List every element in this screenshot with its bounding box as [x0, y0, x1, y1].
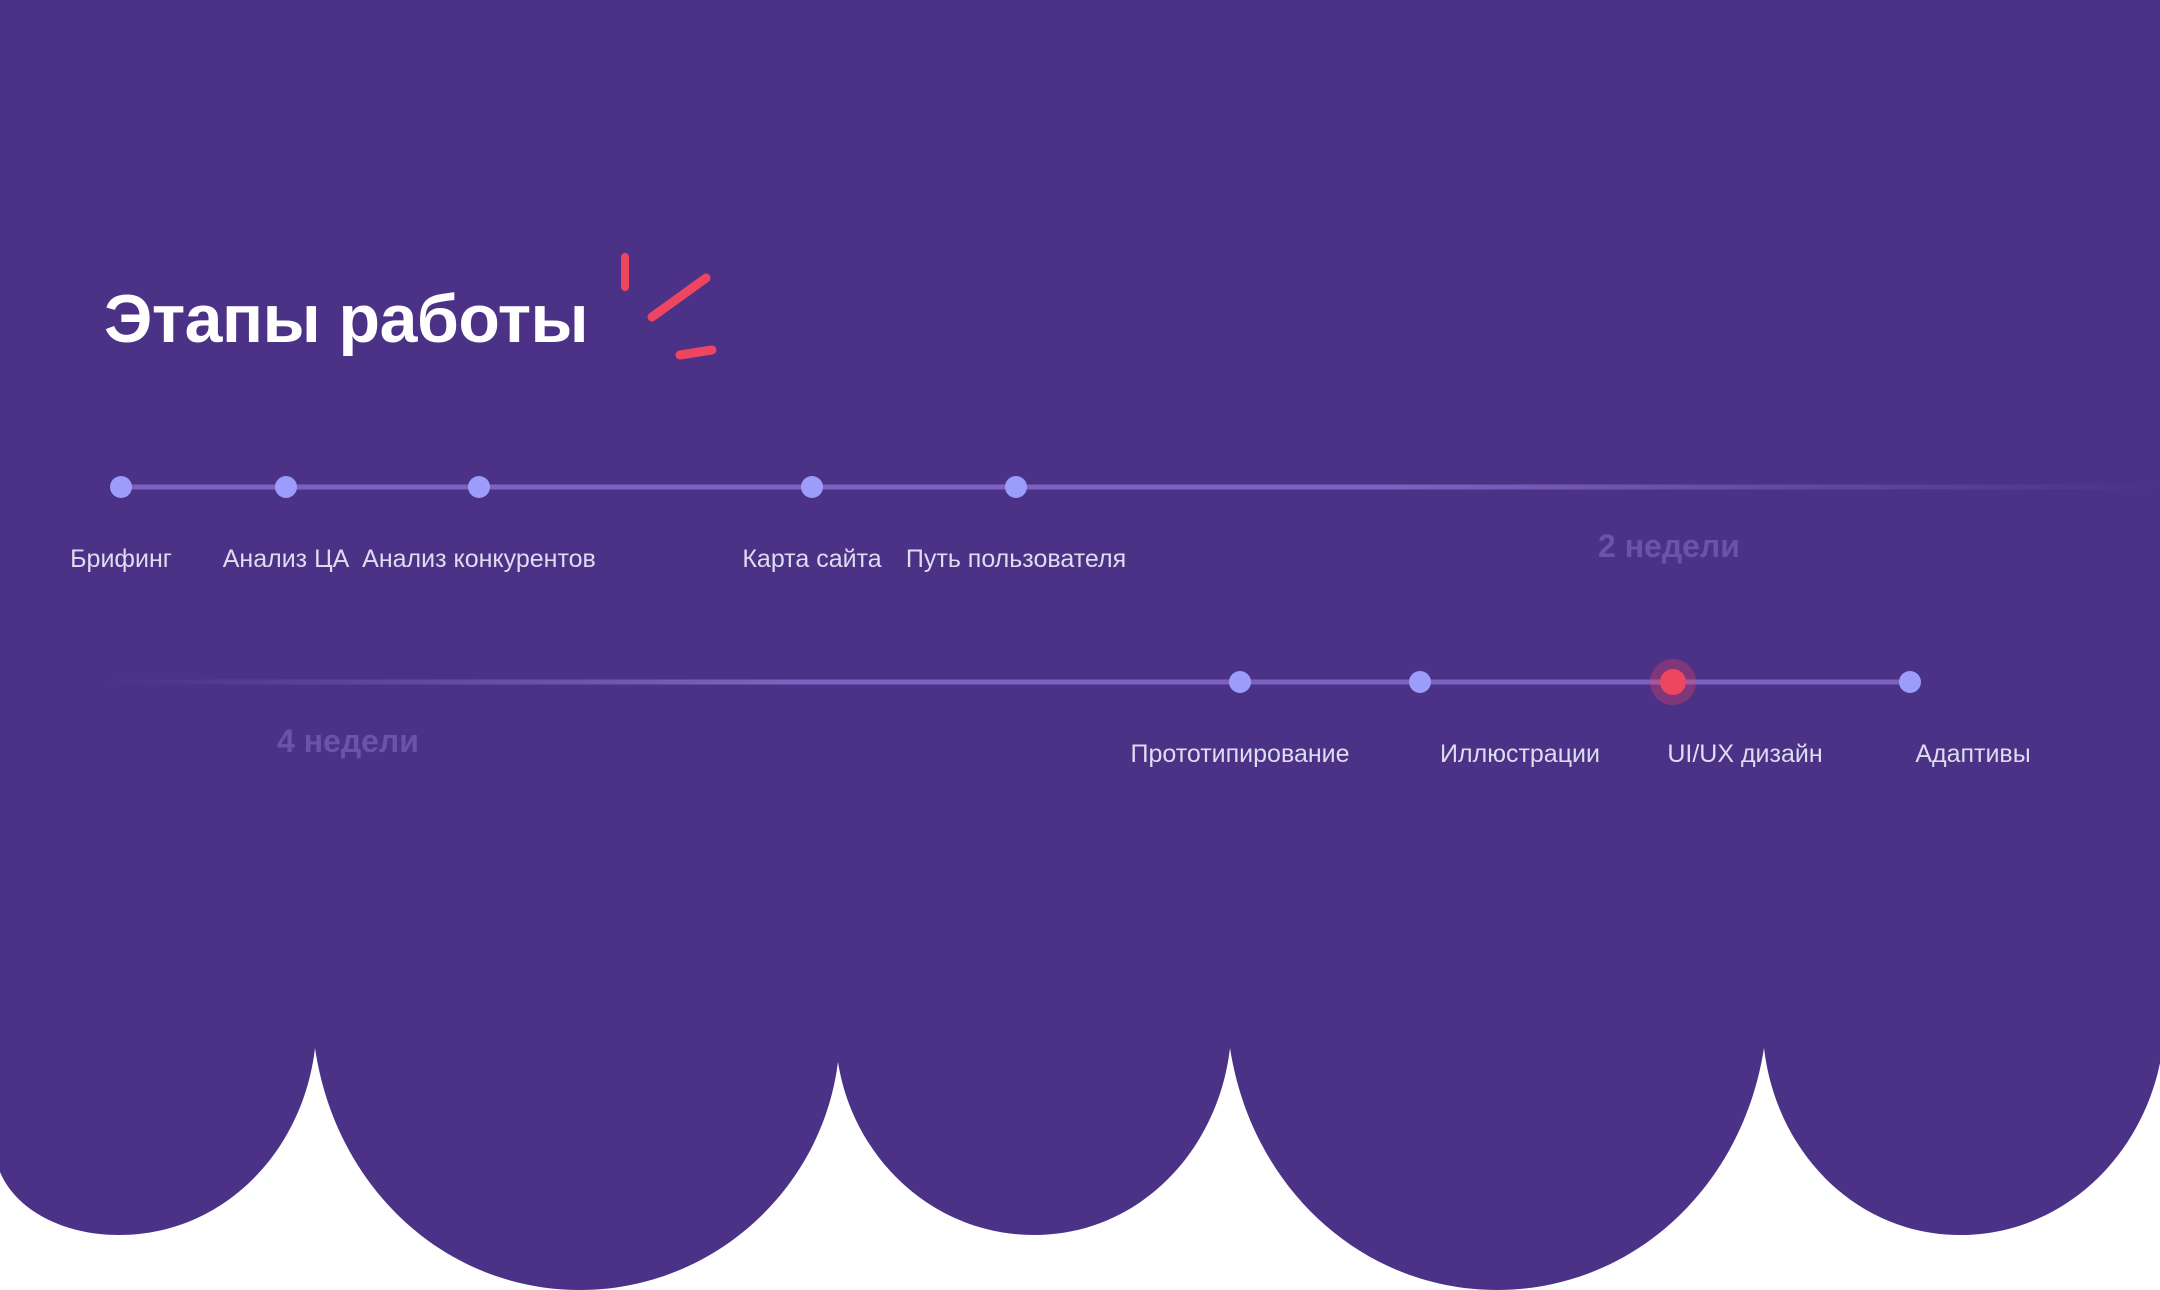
timeline-rail	[104, 680, 1910, 685]
timeline-dot-icon	[468, 476, 490, 498]
slide-canvas: Этапы работы Брифинг Анализ ЦА Анализ ко…	[0, 0, 2160, 1290]
timeline-step-label: Адаптивы	[1915, 742, 2030, 767]
timeline-dot-icon	[801, 476, 823, 498]
timeline-dot-icon	[1899, 671, 1921, 693]
timeline-dot-icon	[110, 476, 132, 498]
timeline-node[interactable]	[1229, 671, 1251, 693]
timeline-dot-icon	[1409, 671, 1431, 693]
timeline-dot-icon	[1229, 671, 1251, 693]
timeline-node-active[interactable]	[1662, 671, 1684, 693]
timeline-dot-icon	[1660, 669, 1686, 695]
timeline-node[interactable]	[275, 476, 297, 498]
timeline-step-label: Карта сайта	[742, 547, 881, 572]
timeline-step-label: Анализ конкурентов	[362, 547, 596, 572]
timeline-dot-icon	[1005, 476, 1027, 498]
timeline-step-label: Иллюстрации	[1440, 742, 1600, 767]
timeline-node[interactable]	[110, 476, 132, 498]
timeline-duration-label: 4 недели	[277, 725, 419, 757]
timeline-step-label: Анализ ЦА	[223, 547, 350, 572]
page-header: Этапы работы	[104, 285, 588, 353]
timeline-step-label: UI/UX дизайн	[1667, 742, 1822, 767]
timeline-step-label: Брифинг	[70, 547, 172, 572]
page-title: Этапы работы	[104, 285, 588, 353]
timeline-rail	[121, 485, 2160, 490]
timeline-duration-label: 2 недели	[1598, 530, 1740, 562]
timeline-node[interactable]	[801, 476, 823, 498]
spark-burst-icon	[600, 245, 740, 375]
timeline-node[interactable]	[468, 476, 490, 498]
purple-background-shape	[0, 0, 2160, 1290]
timeline-node[interactable]	[1899, 671, 1921, 693]
timeline-dot-icon	[275, 476, 297, 498]
timeline-step-label: Прототипирование	[1130, 742, 1349, 767]
timeline-node[interactable]	[1409, 671, 1431, 693]
timeline-step-label: Путь пользователя	[906, 547, 1126, 572]
timeline-node[interactable]	[1005, 476, 1027, 498]
